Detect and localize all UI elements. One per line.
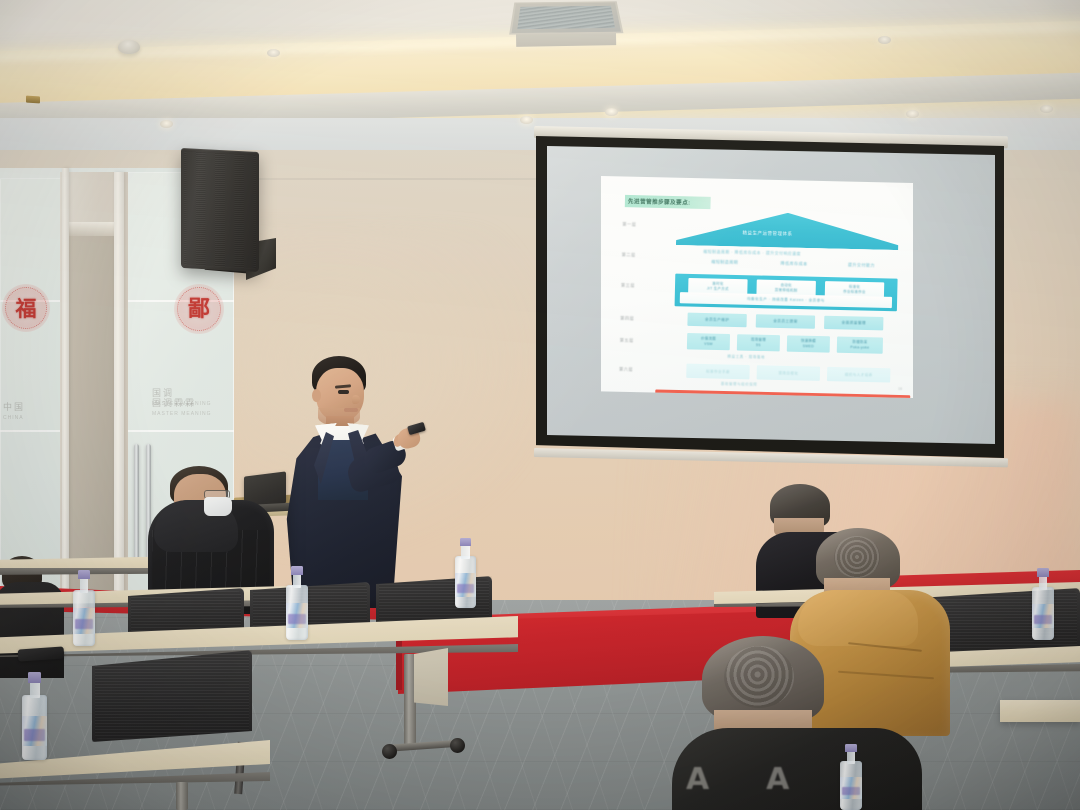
slide-page-number: 16 <box>898 387 902 391</box>
slide-rowA-box: 全员员工提案 <box>756 314 815 329</box>
water-bottle[interactable] <box>1032 568 1054 640</box>
slide-rowB-box: 防错防呆 Poka-yoke <box>837 336 883 353</box>
glass-logo-text: 中国 <box>3 402 25 412</box>
glass-logo-text: 国调霖霖 <box>152 398 196 408</box>
caster-wheel <box>382 744 397 759</box>
presenter-nose <box>352 395 360 404</box>
presenter-ear <box>312 389 321 402</box>
slide-rowB-box: 价值流图 VSM <box>687 333 730 350</box>
jacket-print: A A <box>686 762 896 810</box>
bottle-cap <box>460 538 471 546</box>
presenter-eye <box>338 390 349 394</box>
slide-rowB-caption: 精益工具 · 现场落地 <box>727 353 765 359</box>
slide-rowB-line2: SMED <box>803 344 814 349</box>
frost-stripe <box>0 430 64 432</box>
conference-room-photo: 福 鄙 国调 MASTER MEANING 国调霖霖 MASTER MEANIN… <box>0 0 1080 810</box>
paper-cut-ring <box>177 287 221 331</box>
door-handle[interactable] <box>134 444 139 564</box>
glass-etched-logo: 国调霖霖 MASTER MEANING <box>152 396 212 417</box>
slide-rowB-line2: 5S <box>756 343 761 348</box>
chair-mesh <box>95 653 249 739</box>
water-bottle[interactable] <box>73 570 95 646</box>
downlight-icon <box>160 120 173 128</box>
slide-rowA-text: 全面质量管理 <box>841 320 866 326</box>
slide-row-label: 第二层 <box>622 252 636 258</box>
bottle-label-graphic <box>24 729 45 740</box>
speaker-grill <box>184 151 256 269</box>
slide-rowB-box: 快速换模 SMED <box>787 335 830 352</box>
attendee-front-right: A A <box>672 636 922 810</box>
downlight-icon <box>520 116 533 124</box>
water-bottle[interactable] <box>840 744 862 810</box>
downlight-icon <box>1040 105 1053 113</box>
paper-cut-fu-decoration: 福 <box>2 284 50 332</box>
slide-roof-shape <box>676 210 899 250</box>
bottle-label-graphic <box>1034 615 1052 624</box>
slide-rowC-box: 标准作业手册 <box>686 364 750 380</box>
caster-wheel <box>450 738 465 753</box>
glass-etched-logo: 中国 CHINA <box>3 400 25 421</box>
downlight-icon <box>906 110 919 118</box>
slide-tier2-item: 降低库存成本 <box>781 261 808 268</box>
slide-title-bar: 先进营管推步骤及要点: <box>625 195 711 209</box>
bottle-cap <box>291 566 302 575</box>
projected-slide: 先进营管推步骤及要点: 第一层 第二层 第三层 第四层 第五层 第六层 精益生产… <box>601 176 913 398</box>
slide-tier2-item: 提升交付能力 <box>848 262 875 269</box>
downlight-icon <box>878 36 891 44</box>
door-header <box>64 222 118 236</box>
hair-swirl <box>724 646 794 708</box>
slide-rowA-text: 全员员工提案 <box>773 319 798 325</box>
downlight-icon <box>267 49 280 57</box>
slide-row-label: 第一层 <box>622 221 636 227</box>
bottle-cap <box>845 744 856 752</box>
glass-logo-sub: MASTER MEANING <box>152 411 212 417</box>
bottle-cap <box>78 570 89 579</box>
speaker-brand-badge <box>26 96 40 104</box>
slide-row-label: 第四层 <box>620 315 634 321</box>
slide-pillar-base-text: 均衡化生产 · 持续改善 Kaizen · 全员参与 <box>747 297 825 304</box>
bottle-cap <box>1037 568 1048 577</box>
slide-tier2: 缩短制造周期 · 降低库存成本 · 提升交付响应速度 缩短制造周期 降低库存成本… <box>693 250 897 273</box>
paper-cut-ring <box>5 287 47 329</box>
glass-logo-sub: CHINA <box>3 415 25 421</box>
chair-back[interactable] <box>92 650 252 742</box>
water-bottle[interactable] <box>455 538 476 608</box>
slide-rowC-caption: 基础管理与组织保障 <box>721 381 758 387</box>
slide-row-label: 第五层 <box>620 338 634 344</box>
slide-rowB-line2: VSM <box>704 342 713 347</box>
face-mask-icon <box>204 497 232 516</box>
paper-cut-xi-decoration: 鄙 <box>174 284 224 334</box>
water-bottle[interactable] <box>22 672 47 760</box>
frost-stripe <box>122 430 234 432</box>
bottle-label-graphic <box>288 614 306 624</box>
slide-pillar-line2: 异常停线机制 <box>775 288 798 294</box>
slide-rowC-text: 现场目视化 <box>778 370 798 376</box>
slide-rowC-box: 组织与人才培养 <box>827 367 891 383</box>
slide-rowC-text: 组织与人才培养 <box>845 372 873 378</box>
slide-rowA-box: 全员生产维护 <box>687 313 746 328</box>
slide-pillar-line2: 作业标准作业 <box>843 290 866 296</box>
hvac-vent-icon <box>509 1 623 34</box>
slide-rowB-line2: Poka-yoke <box>850 345 869 351</box>
table-row-far-right <box>1000 700 1080 722</box>
slide-rowA-text: 全员生产维护 <box>705 317 730 323</box>
slide-roof-text: 精益生产运营管理体系 <box>742 230 792 237</box>
bottle-label-graphic <box>457 584 475 593</box>
slide-rowC-box: 现场目视化 <box>757 365 821 381</box>
slide-row-label: 第六层 <box>619 366 633 372</box>
bottle-label-graphic <box>75 619 93 629</box>
table-leg <box>176 782 188 810</box>
slide-rowB-box: 现场管理 5S <box>737 334 780 351</box>
water-bottle[interactable] <box>286 566 308 640</box>
hair-swirl <box>834 536 880 578</box>
slide-tier2-item: 缩短制造周期 <box>711 259 738 266</box>
slide-pillar-line2: JIT 生产方式 <box>707 287 729 293</box>
slide-tier2-line: 缩短制造周期 · 降低库存成本 · 提升交付响应速度 <box>703 250 801 257</box>
downlight-icon <box>605 108 618 116</box>
smoke-detector-icon <box>118 40 140 54</box>
slide-content: 先进营管推步骤及要点: 第一层 第二层 第三层 第四层 第五层 第六层 精益生产… <box>601 176 913 398</box>
slide-rowA-box: 全面质量管理 <box>824 316 883 331</box>
slide-row-label: 第三层 <box>621 283 635 289</box>
bottle-cap <box>28 672 41 683</box>
loudspeaker-icon <box>181 148 259 272</box>
slide-rowC-text: 标准作业手册 <box>706 369 730 375</box>
bottle-label-graphic <box>842 787 860 796</box>
slide-title-text: 先进营管推步骤及要点: <box>628 197 691 207</box>
table-modesty-panel <box>414 648 448 706</box>
